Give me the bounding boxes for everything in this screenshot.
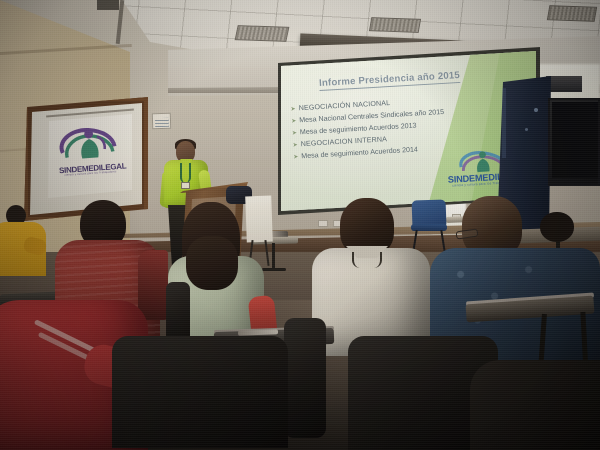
attendee-background-head: [540, 212, 574, 242]
speaker-lanyard: [180, 163, 191, 183]
chair-back-foreground: [112, 336, 288, 448]
ceiling-vent-icon: [235, 25, 290, 42]
wall-outlet: [318, 220, 328, 227]
slide-bullet-text: NEGOCIACIÓN NACIONAL: [298, 99, 390, 112]
rack-highlight: [502, 88, 506, 158]
rack-indicator: [534, 108, 538, 112]
speaker-badge: [181, 182, 190, 189]
attendee-foreground-right: [470, 360, 600, 450]
desk-leg: [272, 243, 275, 271]
meeting-room-photo: Informe Presidencia año 2015 ➤NEGOCIACIÓ…: [0, 0, 600, 450]
flipchart-board: [245, 196, 273, 243]
desk-foot: [262, 268, 286, 271]
attendee-lanyard: [352, 252, 382, 268]
slide-title: Informe Presidencia año 2015: [319, 70, 461, 91]
bullet-marker-icon: ➤: [292, 142, 298, 148]
attendee-green-top-hair-lower: [186, 236, 238, 290]
ceiling-vent-icon: [369, 17, 421, 33]
attendee-red-shoulder: [138, 250, 168, 320]
blue-stacking-chair: [412, 199, 447, 226]
slide-bullet-list: ➤NEGOCIACIÓN NACIONAL ➤Mesa Nacional Cen…: [290, 96, 446, 165]
bullet-marker-icon: ➤: [292, 130, 297, 136]
notice-lines-icon: [155, 118, 169, 127]
wall-notice-sign: [152, 113, 172, 130]
bullet-marker-icon: ➤: [290, 106, 296, 112]
equipment-box: [546, 76, 582, 92]
projection-screen: Informe Presidencia año 2015 ➤NEGOCIACIÓ…: [281, 51, 536, 211]
rack-indicator: [525, 128, 528, 131]
ceiling-duct: [97, 0, 119, 10]
bullet-marker-icon: ➤: [291, 118, 296, 124]
slide-content: Informe Presidencia año 2015 ➤NEGOCIACIÓ…: [281, 51, 536, 211]
chair-back: [284, 318, 326, 438]
sindemedilegal-swoosh-icon: [55, 123, 122, 167]
bullet-marker-icon: ➤: [293, 154, 298, 160]
monitor-screen: [552, 102, 598, 178]
wall-banner-logo: SINDEMEDILEGAL ciencia y cultura para lo…: [53, 123, 127, 186]
ceiling-vent-icon: [547, 5, 597, 22]
slide-bullet-text: NEGOCIACION INTERNA: [301, 135, 388, 148]
